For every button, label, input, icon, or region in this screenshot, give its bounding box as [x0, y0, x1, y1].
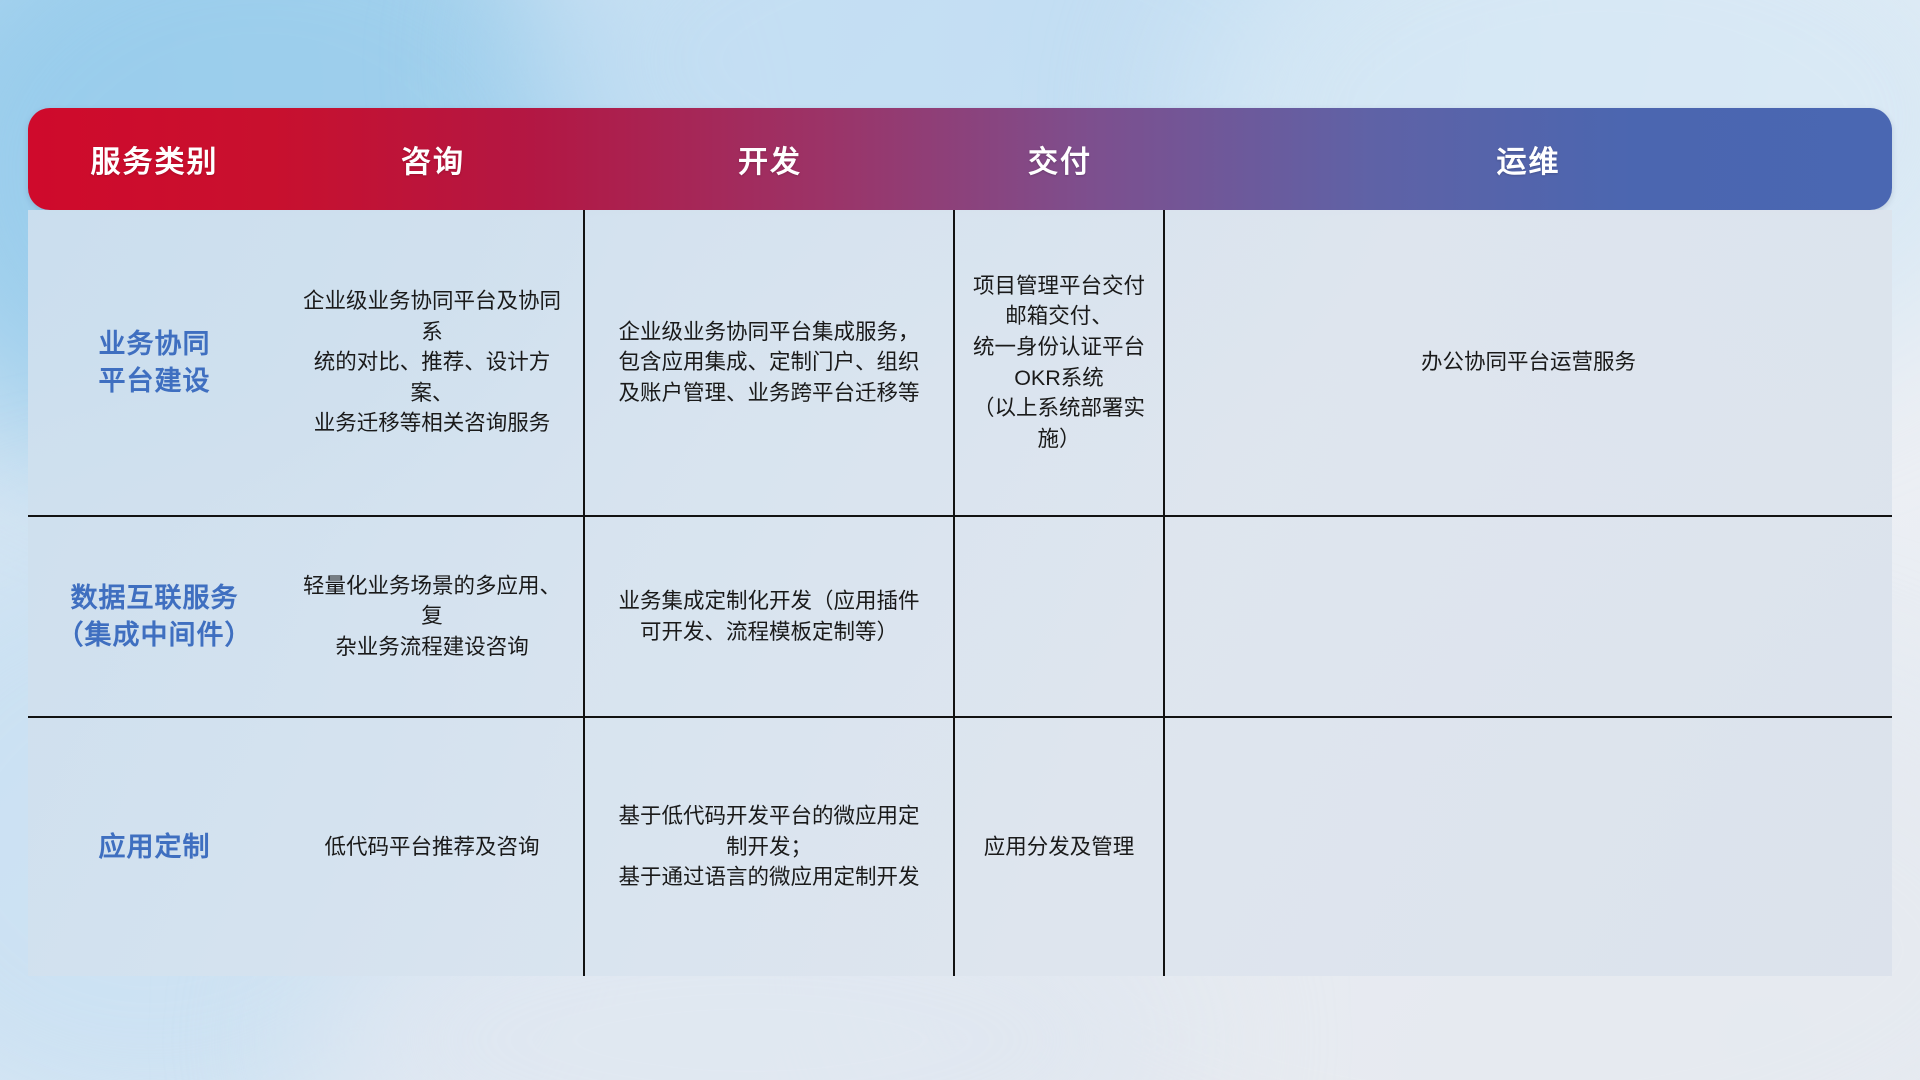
header-development: 开发: [585, 108, 955, 210]
header-operations: 运维: [1165, 108, 1892, 210]
row-category-label: 数据互联服务 （集成中间件）: [28, 517, 281, 716]
cell-consulting: 轻量化业务场景的多应用、复 杂业务流程建设咨询: [281, 517, 585, 716]
header-service-category: 服务类别: [28, 108, 281, 210]
row-category-label: 应用定制: [28, 718, 281, 976]
header-delivery: 交付: [955, 108, 1165, 210]
table-row: 数据互联服务 （集成中间件） 轻量化业务场景的多应用、复 杂业务流程建设咨询 业…: [28, 517, 1892, 718]
row-category-label: 业务协同 平台建设: [28, 210, 281, 515]
cell-development: 业务集成定制化开发（应用插件 可开发、流程模板定制等）: [585, 517, 955, 716]
cell-operations: [1165, 718, 1892, 976]
cell-operations: [1165, 517, 1892, 716]
header-consulting: 咨询: [281, 108, 585, 210]
cell-delivery: [955, 517, 1165, 716]
cell-consulting: 低代码平台推荐及咨询: [281, 718, 585, 976]
table-row: 应用定制 低代码平台推荐及咨询 基于低代码开发平台的微应用定 制开发； 基于通过…: [28, 718, 1892, 976]
cell-operations: 办公协同平台运营服务: [1165, 210, 1892, 515]
service-matrix-table: 服务类别 咨询 开发 交付 运维 业务协同 平台建设 企业级业务协同平台及协同系…: [28, 108, 1892, 976]
cell-development: 基于低代码开发平台的微应用定 制开发； 基于通过语言的微应用定制开发: [585, 718, 955, 976]
table-body: 业务协同 平台建设 企业级业务协同平台及协同系 统的对比、推荐、设计方案、 业务…: [28, 210, 1892, 976]
table-header-row: 服务类别 咨询 开发 交付 运维: [28, 108, 1892, 210]
cell-delivery: 应用分发及管理: [955, 718, 1165, 976]
table-row: 业务协同 平台建设 企业级业务协同平台及协同系 统的对比、推荐、设计方案、 业务…: [28, 210, 1892, 517]
cell-delivery: 项目管理平台交付 邮箱交付、 统一身份认证平台 OKR系统 （以上系统部署实施）: [955, 210, 1165, 515]
cell-consulting: 企业级业务协同平台及协同系 统的对比、推荐、设计方案、 业务迁移等相关咨询服务: [281, 210, 585, 515]
page-root: 服务类别 咨询 开发 交付 运维 业务协同 平台建设 企业级业务协同平台及协同系…: [0, 0, 1920, 1080]
cell-development: 企业级业务协同平台集成服务， 包含应用集成、定制门户、组织 及账户管理、业务跨平…: [585, 210, 955, 515]
